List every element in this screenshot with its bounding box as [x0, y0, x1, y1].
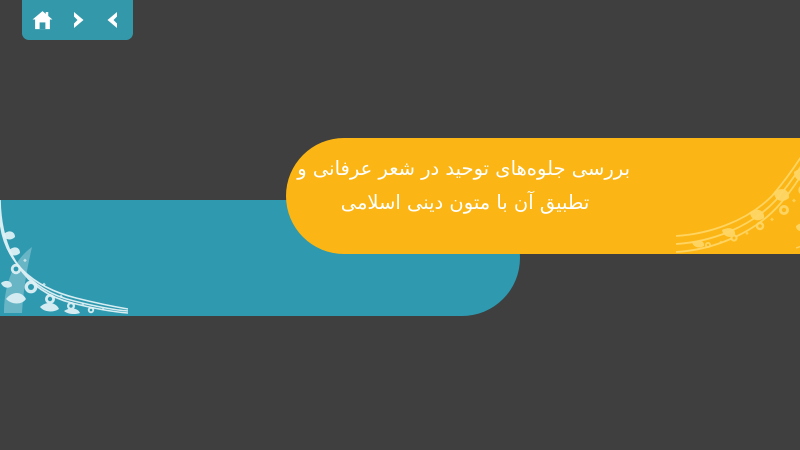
forward-icon	[67, 9, 89, 31]
back-button[interactable]	[100, 7, 126, 33]
home-button[interactable]	[30, 7, 56, 33]
orange-arabesque-ornament	[676, 138, 800, 254]
back-icon	[102, 9, 124, 31]
title-line-1: بررسی جلوه‌های توحید در شعر عرفانی و	[300, 152, 630, 186]
forward-button[interactable]	[65, 7, 91, 33]
title-line-2: تطبیق آن با متون دینی اسلامی	[300, 186, 630, 220]
slide-title: بررسی جلوه‌های توحید در شعر عرفانی و تطب…	[300, 152, 630, 220]
teal-arabesque-ornament	[0, 200, 128, 316]
navigation-bar	[22, 0, 133, 40]
home-icon	[31, 9, 54, 32]
presentation-slide: بررسی جلوه‌های توحید در شعر عرفانی و تطب…	[0, 0, 800, 450]
